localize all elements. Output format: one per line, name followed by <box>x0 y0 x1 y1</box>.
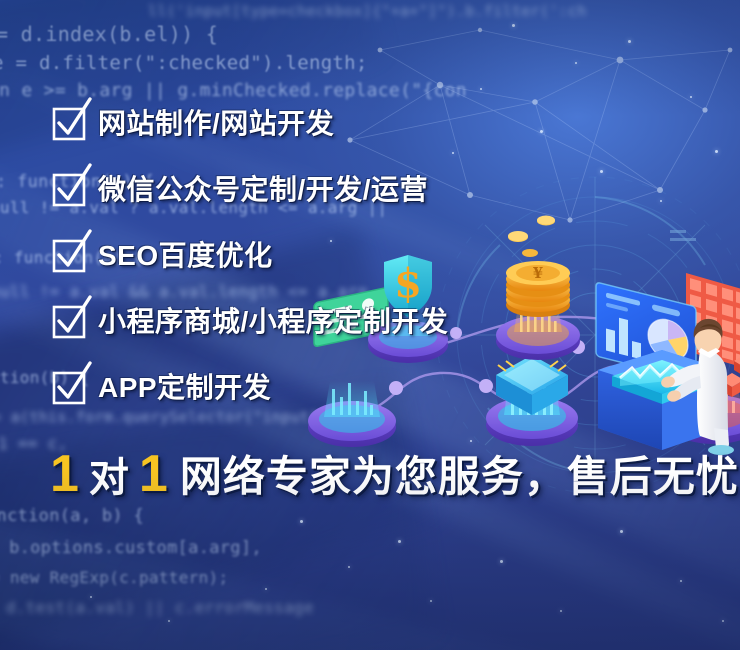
headline-number-first: 1 <box>50 448 79 500</box>
chip-node <box>486 355 578 446</box>
headline-middle-word: 对 <box>89 458 129 498</box>
checkbox-checked-icon[interactable] <box>52 107 82 137</box>
checkbox-checked-icon[interactable] <box>52 371 82 401</box>
list-item-label: 网站制作/网站开发 <box>98 102 334 142</box>
list-item-label: SEO百度优化 <box>98 234 273 274</box>
list-item-label: 微信公众号定制/开发/运营 <box>98 168 428 208</box>
code-line: = new RegExp(c.pattern); <box>0 568 228 587</box>
headline-text: 网络专家为您服务，售后无忧！ <box>180 456 740 498</box>
checkbox-checked-icon[interactable] <box>52 173 82 203</box>
code-line: = b.options.custom[a.arg], <box>0 538 262 558</box>
list-item[interactable]: APP定制开发 <box>52 364 448 408</box>
checkbox-checked-icon[interactable] <box>52 305 82 335</box>
list-item[interactable]: 微信公众号定制/开发/运营 <box>52 166 448 210</box>
code-line: unction(a, b) { <box>0 506 144 526</box>
list-item[interactable]: SEO百度优化 <box>52 232 448 276</box>
code-line: = d.index(b.el)) { <box>0 22 218 46</box>
list-item-label: APP定制开发 <box>98 366 271 406</box>
checkbox-checked-icon[interactable] <box>52 239 82 269</box>
service-checklist: 网站制作/网站开发 微信公众号定制/开发/运营 SEO百度优化 <box>52 100 448 430</box>
code-line: e = d.filter(":checked").length; <box>0 52 368 74</box>
headline: 1 对 1 网络专家为您服务，售后无忧！ <box>50 448 740 500</box>
analyst-console <box>588 278 740 463</box>
code-line: n d.test(a.val) || c.errorMessage <box>0 598 314 617</box>
list-item[interactable]: 网站制作/网站开发 <box>52 100 448 144</box>
code-line: ll('input[type=checkbox]{"+a+"]").b.filt… <box>148 2 587 20</box>
list-item-label: 小程序商城/小程序定制开发 <box>98 300 448 340</box>
promo-banner: ll('input[type=checkbox]{"+a+"]").b.filt… <box>0 0 740 650</box>
svg-text:¥: ¥ <box>533 264 543 282</box>
list-item[interactable]: 小程序商城/小程序定制开发 <box>52 298 448 342</box>
headline-number-second: 1 <box>139 448 168 500</box>
